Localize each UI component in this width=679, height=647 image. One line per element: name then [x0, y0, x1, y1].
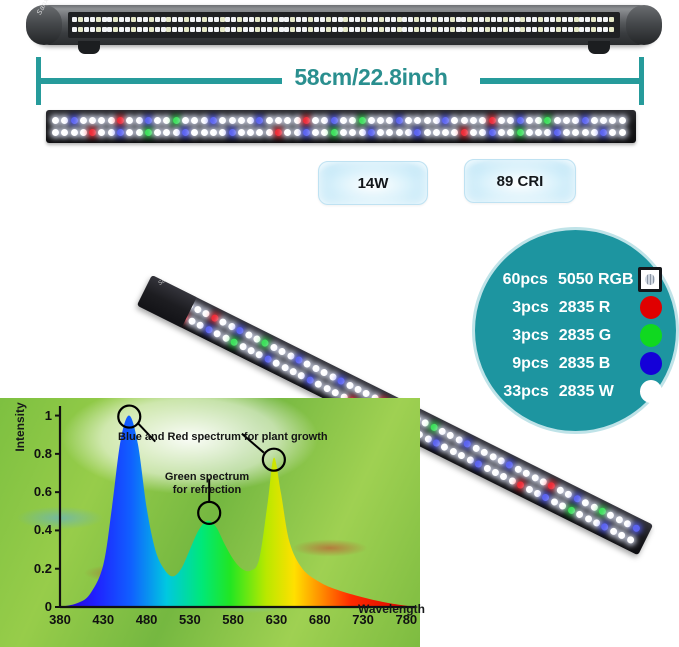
led-dot [614, 515, 623, 524]
led-dot [507, 117, 514, 124]
led-dot [470, 129, 477, 136]
led-dot [619, 129, 626, 136]
led-dot [498, 117, 505, 124]
led-chip [556, 27, 561, 32]
led-dot [201, 310, 210, 319]
led-dot [201, 117, 208, 124]
led-dot [321, 117, 328, 124]
led-chip [161, 27, 166, 32]
led-dot [420, 419, 429, 428]
led-dot [71, 117, 78, 124]
led-chip [367, 27, 372, 32]
led-dot [449, 447, 458, 456]
led-dot [396, 129, 403, 136]
led-chip [438, 27, 443, 32]
mount-bracket-left [78, 41, 100, 54]
led-dot [238, 117, 245, 124]
led-dot [319, 368, 328, 377]
led-dot [451, 117, 458, 124]
led-chip [296, 17, 301, 22]
led-chip [538, 17, 543, 22]
color-swatch-g [640, 324, 662, 347]
led-dot [256, 129, 263, 136]
led-dot [117, 129, 124, 136]
led-chip [125, 17, 130, 22]
led-chip [166, 17, 171, 22]
led-dot [312, 129, 319, 136]
led-chip [408, 27, 413, 32]
led-chip [220, 27, 225, 32]
led-dot [491, 468, 500, 477]
led-dot [461, 117, 468, 124]
led-dot [322, 384, 331, 393]
led-dot [499, 472, 508, 481]
led-dot [437, 427, 446, 436]
led-dot [145, 117, 152, 124]
led-dot [280, 363, 289, 372]
led-dot [238, 129, 245, 136]
led-dot [201, 129, 208, 136]
rgb-chip-icon [638, 267, 662, 292]
led-chip [432, 17, 437, 22]
led-chip [509, 17, 514, 22]
led-chip [515, 27, 520, 32]
led-chip [243, 27, 248, 32]
led-chip [320, 27, 325, 32]
led-dot [210, 117, 217, 124]
led-dot [98, 129, 105, 136]
led-dot [488, 452, 497, 461]
dimension-line-right [480, 78, 640, 84]
led-dot [544, 117, 551, 124]
led-chip [184, 17, 189, 22]
led-dot [513, 465, 522, 474]
led-chip [279, 27, 284, 32]
mount-bracket-right [588, 41, 610, 54]
led-chip [426, 17, 431, 22]
led-dot [535, 129, 542, 136]
led-dot [145, 129, 152, 136]
led-dot [550, 497, 559, 506]
led-chip [538, 27, 543, 32]
led-dot [173, 129, 180, 136]
led-dot [263, 354, 272, 363]
led-dot [196, 321, 205, 330]
led-dot [522, 469, 531, 478]
led-chip [113, 27, 118, 32]
y-tick-label: 0.4 [22, 522, 52, 537]
led-dot [600, 522, 609, 531]
led-chip [473, 17, 478, 22]
led-chip [509, 27, 514, 32]
led-dot [61, 117, 68, 124]
led-chip [72, 17, 77, 22]
led-chip [96, 27, 101, 32]
led-chip [591, 27, 596, 32]
led-chip [78, 27, 83, 32]
led-chip [568, 17, 573, 22]
led-dot [349, 117, 356, 124]
led-chip [544, 17, 549, 22]
led-chip [155, 17, 160, 22]
led-dot [609, 117, 616, 124]
led-dot [289, 367, 298, 376]
led-dot [597, 507, 606, 516]
led-dot [442, 129, 449, 136]
led-chip [149, 27, 154, 32]
led-dot [517, 117, 524, 124]
led-chip [532, 17, 537, 22]
led-dot [227, 322, 236, 331]
led-chip [532, 27, 537, 32]
led-dot [255, 350, 264, 359]
color-swatch-b [640, 352, 662, 375]
led-dot [563, 117, 570, 124]
led-chip [520, 17, 525, 22]
led-chip [90, 27, 95, 32]
led-chip [267, 27, 272, 32]
led-chip [426, 27, 431, 32]
y-tick-label: 0.6 [22, 484, 52, 499]
led-dot [349, 129, 356, 136]
color-swatch-r [640, 296, 662, 319]
led-chip [491, 27, 496, 32]
led-dot [163, 117, 170, 124]
led-dot [479, 117, 486, 124]
led-dot [98, 117, 105, 124]
led-chip [579, 27, 584, 32]
led-chip [473, 27, 478, 32]
spec-quantity: 9pcs [487, 355, 559, 373]
led-chip [90, 17, 95, 22]
led-dot [219, 129, 226, 136]
spec-type: 5050 RGB [558, 271, 638, 289]
led-dot [275, 117, 282, 124]
led-dot [547, 482, 556, 491]
led-chip [420, 27, 425, 32]
led-chip [178, 17, 183, 22]
endcap-right [626, 5, 662, 45]
led-dot [424, 117, 431, 124]
led-dot [396, 117, 403, 124]
led-chip [338, 27, 343, 32]
led-chip [184, 27, 189, 32]
led-dot [221, 333, 230, 342]
led-dot [260, 339, 269, 348]
led-array-lit [46, 110, 636, 143]
led-chip [379, 17, 384, 22]
led-chip [591, 17, 596, 22]
led-dot [600, 117, 607, 124]
led-dot [368, 129, 375, 136]
led-chip [385, 27, 390, 32]
led-dot [256, 117, 263, 124]
led-chip [461, 27, 466, 32]
led-dot [377, 117, 384, 124]
led-dot [210, 129, 217, 136]
led-chip [408, 17, 413, 22]
led-dot [451, 129, 458, 136]
led-dot [368, 117, 375, 124]
led-dot [405, 129, 412, 136]
led-chip [155, 27, 160, 32]
color-swatch-w [640, 380, 662, 403]
led-chip [255, 17, 260, 22]
led-dot [108, 117, 115, 124]
led-dot [294, 129, 301, 136]
led-dot [312, 117, 319, 124]
led-chip [391, 27, 396, 32]
led-chip [397, 27, 402, 32]
y-tick-label: 0.2 [22, 561, 52, 576]
led-dot [80, 117, 87, 124]
led-chip [574, 17, 579, 22]
led-dot [479, 448, 488, 457]
product-infographic: Sanxero 58cm/22.8inch 14W 89 CRI Sanxero… [0, 0, 679, 647]
led-dot [581, 499, 590, 508]
led-dot [584, 514, 593, 523]
led-dot [575, 510, 584, 519]
led-spec-circle: 60pcs5050 RGB3pcs2835 R3pcs2835 G9pcs283… [472, 227, 679, 434]
led-dot [213, 329, 222, 338]
led-dot [432, 438, 441, 447]
led-chip [102, 17, 107, 22]
led-dot [218, 318, 227, 327]
led-chip [556, 17, 561, 22]
led-chip [349, 17, 354, 22]
led-dot [247, 346, 256, 355]
led-chip [131, 27, 136, 32]
led-dot [294, 356, 303, 365]
dimension-label: 58cm/22.8inch [286, 64, 456, 91]
led-chip [402, 17, 407, 22]
led-chip [326, 17, 331, 22]
led-chip [84, 17, 89, 22]
led-strip-unlit [68, 12, 620, 38]
led-dot [592, 518, 601, 527]
led-dot [554, 117, 561, 124]
led-chip [102, 27, 107, 32]
led-dot [591, 129, 598, 136]
spec-row: 9pcs2835 B [487, 352, 662, 375]
led-chip [391, 17, 396, 22]
spec-row: 3pcs2835 R [487, 296, 662, 319]
led-dot [498, 129, 505, 136]
led-chip [119, 27, 124, 32]
led-dot [466, 455, 475, 464]
led-chip [320, 17, 325, 22]
led-chip [131, 17, 136, 22]
led-dot [429, 423, 438, 432]
led-chip [585, 17, 590, 22]
led-chip [290, 17, 295, 22]
led-chip [361, 27, 366, 32]
led-dot [272, 358, 281, 367]
led-chip [72, 27, 77, 32]
led-chip [190, 17, 195, 22]
led-dot [303, 117, 310, 124]
led-dot [244, 331, 253, 340]
led-dot [340, 129, 347, 136]
led-dot [306, 375, 315, 384]
spec-row: 3pcs2835 G [487, 324, 662, 347]
led-chip [96, 17, 101, 22]
led-chip [255, 27, 260, 32]
led-chip [338, 17, 343, 22]
led-chip [503, 17, 508, 22]
led-dot [535, 117, 542, 124]
led-chip [461, 17, 466, 22]
led-chip [579, 17, 584, 22]
led-dot [555, 486, 564, 495]
led-chip [137, 17, 142, 22]
x-tick-label: 480 [127, 612, 167, 627]
led-dot [52, 117, 59, 124]
led-chip [231, 17, 236, 22]
led-dot [269, 343, 278, 352]
led-dot [377, 129, 384, 136]
led-chip [373, 17, 378, 22]
led-chip [603, 27, 608, 32]
x-tick-label: 580 [213, 612, 253, 627]
led-dot [230, 337, 239, 346]
annotation-green-line2: for refrection [152, 484, 262, 497]
badge-power-label: 14W [358, 175, 389, 192]
led-chip [526, 27, 531, 32]
spectrum-area [60, 416, 415, 607]
led-dot [247, 129, 254, 136]
led-chip [107, 17, 112, 22]
led-dot [238, 342, 247, 351]
led-chip [237, 27, 242, 32]
dimension-line-left [40, 78, 282, 84]
led-chip [279, 17, 284, 22]
led-chip [379, 27, 384, 32]
led-dot [297, 371, 306, 380]
led-chip [526, 17, 531, 22]
spec-row: 60pcs5050 RGB [487, 268, 662, 291]
led-chip [444, 27, 449, 32]
led-dot [182, 129, 189, 136]
led-dot [563, 129, 570, 136]
led-dot [474, 459, 483, 468]
led-dot [204, 325, 213, 334]
led-dot [294, 117, 301, 124]
led-chip [249, 27, 254, 32]
led-chip [202, 17, 207, 22]
led-chip [574, 27, 579, 32]
led-dot [489, 129, 496, 136]
led-dot [359, 129, 366, 136]
led-chip [208, 17, 213, 22]
dimension-bracket: 58cm/22.8inch [36, 57, 644, 105]
y-tick-label: 1 [22, 408, 52, 423]
led-chip [585, 27, 590, 32]
led-chip [208, 27, 213, 32]
led-dot [471, 444, 480, 453]
led-chip [125, 27, 130, 32]
led-chip [562, 27, 567, 32]
led-chip [296, 27, 301, 32]
led-dot [314, 379, 323, 388]
led-dot [154, 117, 161, 124]
led-chip [467, 17, 472, 22]
led-dot [136, 129, 143, 136]
led-chip [172, 27, 177, 32]
led-chip [343, 17, 348, 22]
led-chip [491, 17, 496, 22]
led-chip [550, 17, 555, 22]
led-dot [457, 451, 466, 460]
led-dot [252, 335, 261, 344]
led-chip [143, 27, 148, 32]
led-chip [544, 27, 549, 32]
led-chip [302, 17, 307, 22]
led-dot [414, 117, 421, 124]
led-chip [597, 27, 602, 32]
led-chip [190, 27, 195, 32]
led-dot [496, 457, 505, 466]
led-dot [516, 480, 525, 489]
led-dot [331, 388, 340, 397]
led-dot [52, 129, 59, 136]
led-dot [229, 117, 236, 124]
led-dot [470, 117, 477, 124]
spec-type: 2835 R [559, 299, 640, 317]
led-dot [558, 501, 567, 510]
led-chip [284, 27, 289, 32]
led-chip [143, 17, 148, 22]
led-dot [191, 117, 198, 124]
led-chip [225, 27, 230, 32]
led-dot [530, 473, 539, 482]
led-chip [214, 17, 219, 22]
led-dot [567, 505, 576, 514]
led-dot [526, 117, 533, 124]
led-dot [71, 129, 78, 136]
led-dot [336, 377, 345, 386]
led-dot [219, 117, 226, 124]
led-dot [386, 117, 393, 124]
led-dot [328, 373, 337, 382]
led-chip [225, 17, 230, 22]
spec-quantity: 60pcs [487, 271, 558, 289]
led-dot [606, 511, 615, 520]
led-dot [554, 129, 561, 136]
led-chip [326, 27, 331, 32]
led-chip [220, 17, 225, 22]
spec-quantity: 33pcs [487, 383, 559, 401]
led-chip [302, 27, 307, 32]
led-dot [461, 129, 468, 136]
led-chip [414, 27, 419, 32]
led-dot [266, 129, 273, 136]
led-chip [107, 27, 112, 32]
led-dot [117, 117, 124, 124]
led-chip [261, 17, 266, 22]
led-chip [355, 27, 360, 32]
led-chip [597, 17, 602, 22]
led-dot [582, 117, 589, 124]
led-chip [78, 17, 83, 22]
led-chip [438, 17, 443, 22]
led-chip [178, 27, 183, 32]
spec-row: 33pcs2835 W [487, 380, 662, 403]
led-dot [440, 442, 449, 451]
spec-quantity: 3pcs [487, 299, 559, 317]
led-chip [479, 17, 484, 22]
led-chip [84, 27, 89, 32]
